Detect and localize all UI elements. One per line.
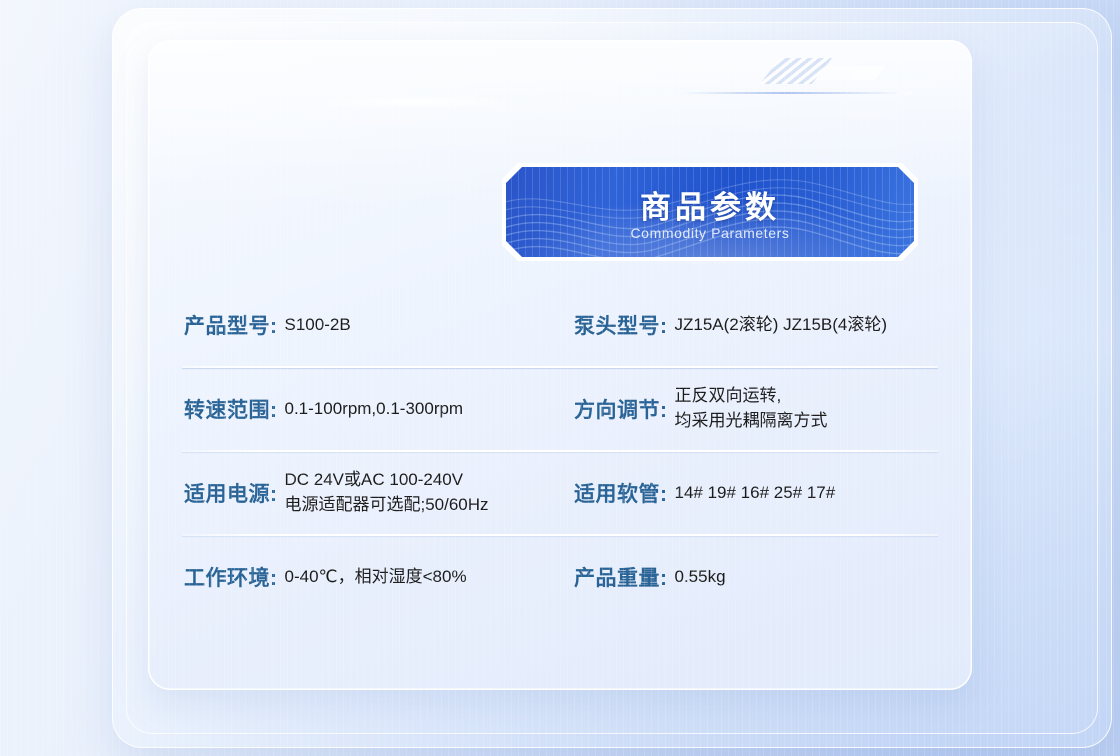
- corner-accent-bar-icon: [755, 66, 886, 80]
- spec-value-line1: 正反双向运转,: [675, 384, 941, 409]
- spec-item-product-model: 产品型号: S100-2B: [180, 283, 562, 367]
- spec-value: 0.1-100rpm,0.1-300rpm: [285, 397, 559, 422]
- spec-value: 0.55kg: [675, 565, 941, 590]
- spec-value: DC 24V或AC 100-240V 电源适配器可选配;50/60Hz: [285, 468, 559, 517]
- spec-label: 工作环境:: [184, 562, 278, 592]
- table-row: 转速范围: 0.1-100rpm,0.1-300rpm 方向调节: 正反双向运转…: [180, 367, 944, 451]
- spec-label: 方向调节:: [574, 394, 668, 424]
- spec-item-pump-head-model: 泵头型号: JZ15A(2滚轮) JZ15B(4滚轮): [562, 283, 944, 367]
- spec-item-direction-control: 方向调节: 正反双向运转, 均采用光耦隔离方式: [562, 367, 944, 451]
- spec-value-line1: 0-40℃，相对湿度<80%: [285, 567, 467, 586]
- spec-item-product-weight: 产品重量: 0.55kg: [562, 535, 944, 619]
- spec-label: 适用电源:: [184, 478, 278, 508]
- spec-card: 商品参数 Commodity Parameters 产品型号: S100-2B …: [148, 40, 972, 690]
- spec-label: 泵头型号:: [574, 310, 668, 340]
- spec-label: 产品型号:: [184, 310, 278, 340]
- corner-slash-stripes-icon: [760, 58, 832, 84]
- spec-value-line1: 14# 19# 16# 25# 17#: [675, 483, 836, 502]
- spec-value-line1: JZ15A(2滚轮) JZ15B(4滚轮): [675, 315, 888, 334]
- spec-item-speed-range: 转速范围: 0.1-100rpm,0.1-300rpm: [180, 367, 562, 451]
- title-banner: 商品参数 Commodity Parameters: [502, 163, 918, 261]
- banner-title-cn: 商品参数: [506, 182, 914, 227]
- table-row: 工作环境: 0-40℃，相对湿度<80% 产品重量: 0.55kg: [180, 535, 944, 619]
- table-row: 适用电源: DC 24V或AC 100-240V 电源适配器可选配;50/60H…: [180, 451, 944, 535]
- spec-value-line1: DC 24V或AC 100-240V: [285, 468, 559, 493]
- spec-label: 转速范围:: [184, 394, 278, 424]
- spec-value: JZ15A(2滚轮) JZ15B(4滚轮): [675, 313, 941, 338]
- spec-label: 适用软管:: [574, 478, 668, 508]
- spec-table: 产品型号: S100-2B 泵头型号: JZ15A(2滚轮) JZ15B(4滚轮…: [180, 283, 944, 619]
- spec-value: S100-2B: [285, 313, 559, 338]
- spec-value-line2: 电源适配器可选配;50/60Hz: [285, 493, 559, 518]
- spec-value: 0-40℃，相对湿度<80%: [285, 565, 559, 590]
- spec-item-tubing: 适用软管: 14# 19# 16# 25# 17#: [562, 451, 944, 535]
- spec-value-line2: 均采用光耦隔离方式: [675, 409, 941, 434]
- banner-body: 商品参数 Commodity Parameters: [506, 167, 914, 257]
- spec-item-power-supply: 适用电源: DC 24V或AC 100-240V 电源适配器可选配;50/60H…: [180, 451, 562, 535]
- table-row: 产品型号: S100-2B 泵头型号: JZ15A(2滚轮) JZ15B(4滚轮…: [180, 283, 944, 367]
- spec-value: 14# 19# 16# 25# 17#: [675, 481, 941, 506]
- product-spec-page: 商品参数 Commodity Parameters 产品型号: S100-2B …: [0, 0, 1120, 756]
- spec-value-line1: 0.55kg: [675, 567, 726, 586]
- spec-value-line1: S100-2B: [285, 315, 351, 334]
- banner-title-en: Commodity Parameters: [506, 225, 914, 241]
- spec-value: 正反双向运转, 均采用光耦隔离方式: [675, 384, 941, 433]
- spec-label: 产品重量:: [574, 562, 668, 592]
- spec-value-line1: 0.1-100rpm,0.1-300rpm: [285, 399, 464, 418]
- spec-item-operating-environment: 工作环境: 0-40℃，相对湿度<80%: [180, 535, 562, 619]
- top-glow-highlight: [298, 98, 528, 106]
- corner-accent-line-icon: [681, 92, 913, 94]
